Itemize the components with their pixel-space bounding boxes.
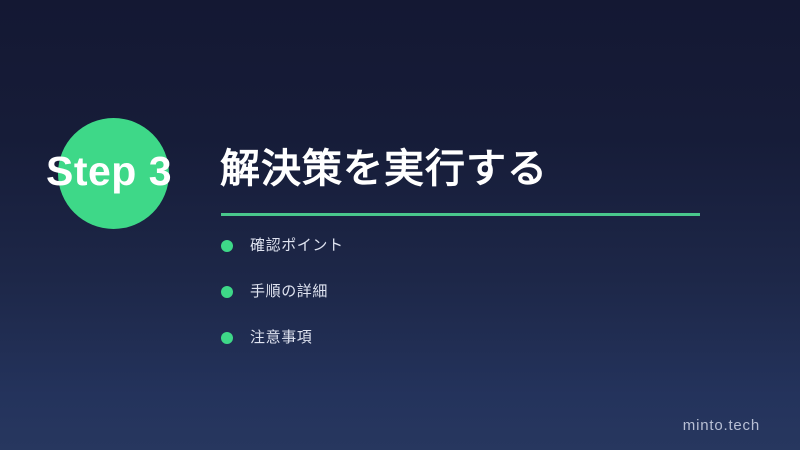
bullet-dot-icon xyxy=(221,286,233,298)
list-item: 注意事項 xyxy=(221,327,691,373)
slide-title: 解決策を実行する xyxy=(220,146,548,192)
bullet-list: 確認ポイント 手順の詳細 注意事項 xyxy=(221,235,691,373)
list-item-label: 注意事項 xyxy=(250,327,312,349)
list-item-label: 確認ポイント xyxy=(250,235,344,257)
title-underline-rule xyxy=(221,213,700,216)
footer-branding: minto.tech xyxy=(683,417,760,434)
list-item-label: 手順の詳細 xyxy=(250,281,328,303)
step-badge-label: Step 3 xyxy=(46,151,172,192)
slide-canvas: Step 3 解決策を実行する 確認ポイント 手順の詳細 注意事項 minto.… xyxy=(0,0,800,450)
list-item: 確認ポイント xyxy=(221,235,691,281)
bullet-dot-icon xyxy=(221,332,233,344)
list-item: 手順の詳細 xyxy=(221,281,691,327)
bullet-dot-icon xyxy=(221,240,233,252)
